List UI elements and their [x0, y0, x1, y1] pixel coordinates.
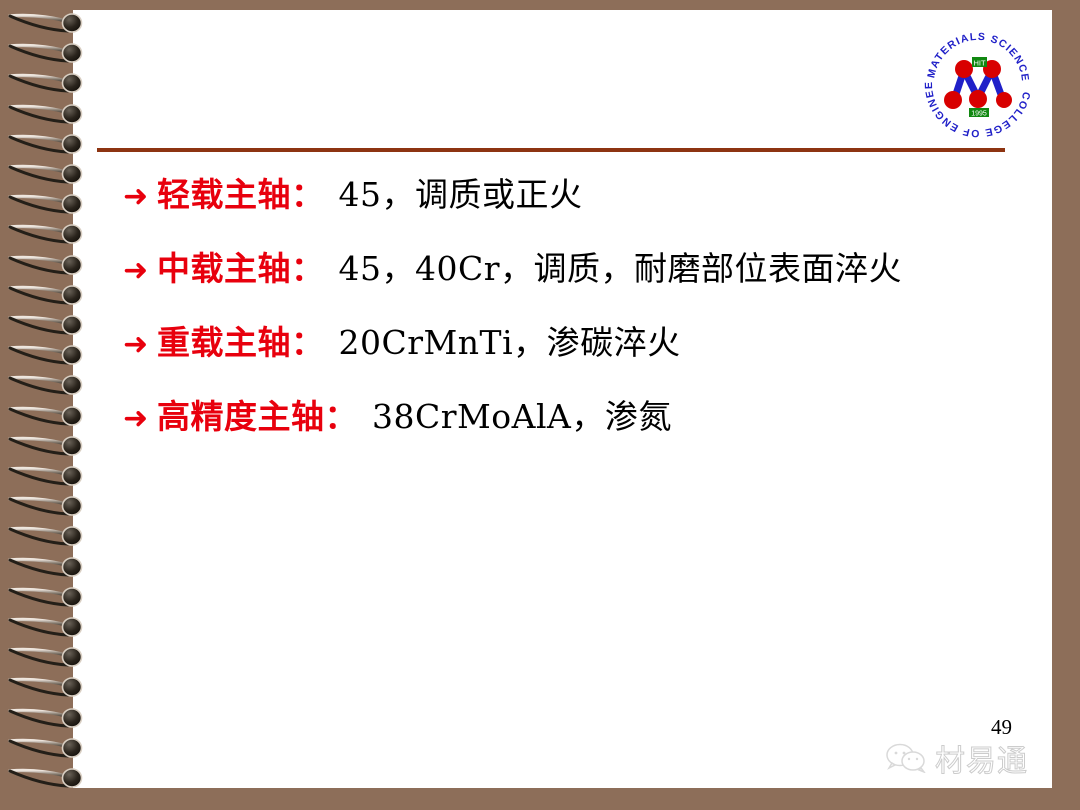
watermark-text: 材易通 — [935, 736, 1028, 780]
bullet-label: 高精度主轴： — [157, 390, 358, 438]
spiral-ring — [8, 676, 86, 702]
slide-page-sheet: MATERIALS SCIENCE & COLLEGE OF ENGINEERI… — [73, 10, 1052, 788]
bullet-item-high-precision-spindle: ➜ 高精度主轴： 38CrMoAlA，渗氮 — [123, 390, 1023, 464]
wechat-icon — [885, 743, 929, 773]
slide-root: MATERIALS SCIENCE & COLLEGE OF ENGINEERI… — [0, 0, 1080, 810]
bullet-list: ➜ 轻载主轴： 45，调质或正火 ➜ 中载主轴： 45，40Cr，调质，耐磨部位… — [123, 168, 1023, 464]
header-divider-rule — [97, 148, 1005, 152]
spiral-ring — [8, 495, 86, 521]
spiral-ring — [8, 707, 86, 733]
spiral-ring — [8, 405, 86, 431]
arrow-bullet-icon: ➜ — [123, 182, 157, 212]
spiral-ring — [8, 737, 86, 763]
spiral-ring — [8, 193, 86, 219]
spiral-ring — [8, 374, 86, 400]
spiral-ring — [8, 344, 86, 370]
bullet-label: 中载主轴： — [157, 242, 325, 290]
logo-center-bottom-text: 1995 — [971, 111, 987, 118]
spiral-ring — [8, 42, 86, 68]
college-logo-svg: MATERIALS SCIENCE & COLLEGE OF ENGINEERI… — [920, 22, 1036, 138]
arrow-bullet-icon: ➜ — [123, 330, 157, 360]
bullet-item-light-load-spindle: ➜ 轻载主轴： 45，调质或正火 — [123, 168, 1023, 242]
spiral-ring — [8, 72, 86, 98]
bullet-label: 重载主轴： — [157, 316, 325, 364]
spiral-ring — [8, 163, 86, 189]
spiral-ring — [8, 284, 86, 310]
bullet-item-medium-load-spindle: ➜ 中载主轴： 45，40Cr，调质，耐磨部位表面淬火 — [123, 242, 1023, 316]
bullet-value: 38CrMoAlA，渗氮 — [358, 390, 672, 438]
spiral-binding — [0, 0, 90, 810]
college-logo: MATERIALS SCIENCE & COLLEGE OF ENGINEERI… — [920, 22, 1036, 138]
spiral-ring — [8, 465, 86, 491]
arrow-bullet-icon: ➜ — [123, 404, 157, 434]
bullet-value: 20CrMnTi，渗碳淬火 — [325, 316, 681, 364]
bullet-value: 45，调质或正火 — [325, 168, 583, 216]
bullet-label: 轻载主轴： — [157, 168, 325, 216]
spiral-ring — [8, 435, 86, 461]
watermark: 材易通 — [885, 736, 1028, 780]
spiral-ring — [8, 133, 86, 159]
spiral-ring — [8, 103, 86, 129]
spiral-ring — [8, 616, 86, 642]
spiral-ring — [8, 12, 86, 38]
bullet-value: 45，40Cr，调质，耐磨部位表面淬火 — [325, 242, 903, 290]
logo-arc-top-text: MATERIALS SCIENCE & — [920, 22, 1031, 83]
spiral-ring — [8, 586, 86, 612]
arrow-bullet-icon: ➜ — [123, 256, 157, 286]
spiral-ring — [8, 556, 86, 582]
bullet-item-heavy-load-spindle: ➜ 重载主轴： 20CrMnTi，渗碳淬火 — [123, 316, 1023, 390]
spiral-ring — [8, 525, 86, 551]
spiral-ring — [8, 646, 86, 672]
spiral-ring — [8, 314, 86, 340]
spiral-ring — [8, 223, 86, 249]
spiral-ring — [8, 254, 86, 280]
spiral-ring — [8, 767, 86, 793]
logo-center-top-text: HIT — [973, 59, 986, 68]
